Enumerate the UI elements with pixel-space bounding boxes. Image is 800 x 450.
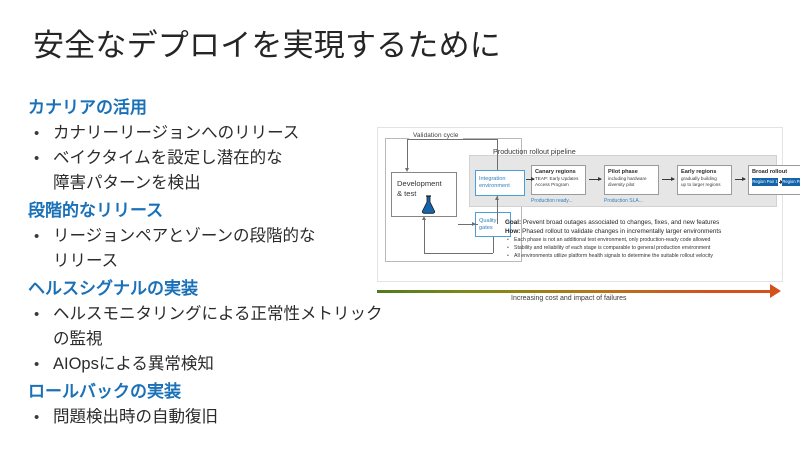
stage-subtitle: gradually building up to larger regions	[681, 176, 731, 187]
connector-arrow-icon	[472, 222, 476, 226]
integration-environment-box: Integration environment	[475, 170, 525, 196]
goal-how-block: Goal: Prevent broad outages associated t…	[505, 219, 777, 260]
goal-note-text: All environments utilize platform health…	[514, 253, 713, 259]
list-item: • AIOpsによる異常検知	[28, 352, 383, 377]
goal-note: • Stability and reliability of each stag…	[505, 244, 777, 252]
connector-line	[497, 139, 498, 170]
how-text: Phased rollout to validate changes in in…	[522, 228, 721, 235]
deployment-pipeline-diagram: Validation cycle Production rollout pipe…	[377, 127, 783, 309]
slide-canvas: 安全なデプロイを実現するために カナリアの活用 • カナリーリージョンへのリリー…	[0, 0, 800, 450]
section-heading-staged-release: 段階的なリリース	[28, 199, 383, 223]
stage-box-canary-regions: Canary regions TEAP: Early Updates Acces…	[531, 165, 586, 195]
how-label: How:	[505, 228, 520, 235]
bullet-dot-icon: •	[34, 121, 39, 146]
bullet-dot-icon: •	[34, 224, 39, 249]
list-item: • ベイクタイムを設定し潜在的な 障害パターンを検出	[28, 146, 383, 196]
list-item: • リージョンペアとゾーンの段階的な リリース	[28, 224, 383, 274]
page-title: 安全なデプロイを実現するために	[33, 26, 501, 66]
bullet-text: ベイクタイムを設定し潜在的な 障害パターンを検出	[53, 146, 383, 196]
stage-title: Early regions	[681, 169, 716, 176]
bullet-text: ヘルスモニタリングによる正常性メトリックの監視	[53, 302, 383, 352]
stage-arrow-icon	[526, 179, 534, 180]
bullet-dot-icon: •	[507, 236, 509, 244]
section-heading-health-signals: ヘルスシグナルの実装	[28, 277, 383, 301]
goal-line: Goal: Prevent broad outages associated t…	[505, 219, 777, 228]
bullet-text: リージョンペアとゾーンの段階的な リリース	[53, 224, 383, 274]
bullet-dot-icon: •	[507, 252, 509, 260]
stage-arrow-icon	[735, 179, 745, 180]
stage-title: Canary regions	[535, 169, 576, 176]
list-item: • ヘルスモニタリングによる正常性メトリックの監視	[28, 302, 383, 352]
stage-note-production-sla: Production SLA...	[604, 198, 643, 204]
pipeline-title: Production rollout pipeline	[493, 147, 576, 156]
stage-box-broad-rollout: Broad rollout Region Pair 1 Region Pair …	[748, 165, 800, 195]
development-test-box: Development & test	[391, 172, 457, 217]
connector-line	[493, 237, 494, 253]
bullet-text: カナリーリージョンへのリリース	[53, 121, 383, 146]
how-line: How: Phased rollout to validate changes …	[505, 228, 777, 237]
region-pair-2-chip: Region Pair 2	[782, 178, 800, 186]
bullet-list-health-signals: • ヘルスモニタリングによる正常性メトリックの監視 • AIOpsによる異常検知	[28, 302, 383, 377]
region-pair-1-chip: Region Pair 1	[752, 178, 778, 186]
goal-label: Goal:	[505, 219, 521, 226]
risk-gradient-arrow	[377, 290, 775, 293]
risk-gradient-arrowhead-icon	[770, 284, 781, 298]
connector-line	[497, 196, 498, 224]
goal-note-text: Stability and reliability of each stage …	[514, 245, 710, 251]
goal-text: Prevent broad outages associated to chan…	[523, 219, 719, 226]
bullet-dot-icon: •	[507, 244, 509, 252]
connector-line	[424, 219, 425, 253]
list-item: • カナリーリージョンへのリリース	[28, 121, 383, 146]
content-column: カナリアの活用 • カナリーリージョンへのリリース • ベイクタイムを設定し潜在…	[28, 96, 383, 433]
connector-arrow-icon	[405, 168, 409, 172]
goal-note: • Each phase is not an additional test e…	[505, 236, 777, 244]
connector-line	[407, 139, 497, 140]
bullet-list-rollback: • 問題検出時の自動復旧	[28, 405, 383, 430]
stage-subtitle: including hardware diversity pilot	[608, 176, 658, 187]
bullet-text: AIOpsによる異常検知	[53, 352, 383, 377]
stage-title: Pilot phase	[608, 169, 638, 176]
integration-environment-label: Integration environment	[479, 176, 510, 190]
stage-box-early-regions: Early regions gradually building up to l…	[677, 165, 732, 195]
bullet-list-staged-release: • リージョンペアとゾーンの段階的な リリース	[28, 224, 383, 274]
goal-note: • All environments utilize platform heal…	[505, 252, 777, 260]
flask-icon	[421, 195, 436, 214]
list-item: • 問題検出時の自動復旧	[28, 405, 383, 430]
stage-arrow-icon	[589, 179, 601, 180]
validation-cycle-label: Validation cycle	[409, 132, 463, 139]
section-heading-rollback: ロールバックの実装	[28, 380, 383, 404]
section-heading-canary: カナリアの活用	[28, 96, 383, 120]
connector-arrow-icon	[495, 196, 499, 200]
bullet-dot-icon: •	[34, 146, 39, 171]
stage-arrow-icon	[662, 179, 674, 180]
risk-gradient-label: Increasing cost and impact of failures	[511, 295, 627, 302]
bullet-dot-icon: •	[34, 352, 39, 377]
bullet-dot-icon: •	[34, 302, 39, 327]
stage-note-production-ready: Production ready...	[531, 198, 573, 204]
bullet-dot-icon: •	[34, 405, 39, 430]
stage-subtitle: TEAP: Early Updates Access Program	[535, 176, 585, 187]
bullet-list-canary: • カナリーリージョンへのリリース • ベイクタイムを設定し潜在的な 障害パター…	[28, 121, 383, 196]
bullet-text: 問題検出時の自動復旧	[53, 405, 383, 430]
stage-box-pilot-phase: Pilot phase including hardware diversity…	[604, 165, 659, 195]
quality-gates-label: Quality gates	[479, 218, 496, 232]
stage-title: Broad rollout	[752, 169, 787, 176]
connector-arrow-icon	[422, 216, 426, 220]
connector-line	[424, 253, 493, 254]
connector-line	[407, 139, 408, 169]
goal-note-text: Each phase is not an additional test env…	[514, 237, 710, 243]
